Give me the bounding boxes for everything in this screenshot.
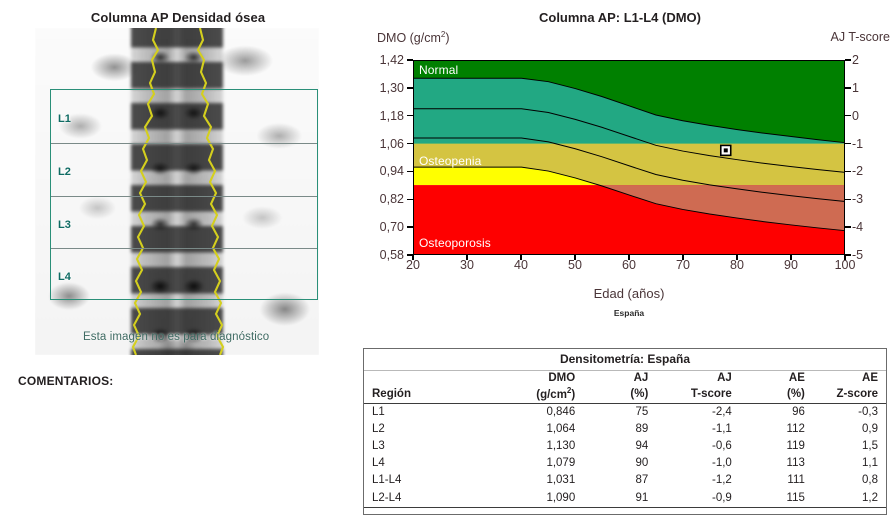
table-row[interactable]: L1-L41,03187-1,21110,8 [364, 472, 886, 489]
t-tick-label: -3 [852, 192, 863, 206]
table-cell-ae_pct: 112 [740, 421, 813, 438]
densitometry-table: Densitometría: España DMOAJAJAEAE Región… [364, 349, 886, 508]
t-tick-mark [845, 226, 851, 228]
table-row[interactable]: L2-L41,09091-0,91151,2 [364, 490, 886, 508]
table-cell-ae_z: 0,8 [813, 472, 886, 489]
x-tick-mark [466, 255, 468, 260]
y-tick-mark [407, 87, 413, 89]
table-cell-ae_z: 0,9 [813, 421, 886, 438]
table-cell-aj_pct: 89 [583, 421, 656, 438]
table-row[interactable]: L31,13094-0,61191,5 [364, 438, 886, 455]
results-table[interactable]: Densitometría: España DMOAJAJAEAE Región… [363, 348, 887, 515]
table-cell-ae_z: 1,5 [813, 438, 886, 455]
y-tick-mark [407, 59, 413, 61]
x-tick-mark [412, 255, 414, 260]
table-cell-dmo: 0,846 [489, 403, 583, 421]
table-header-top: AJ [656, 370, 740, 386]
table-header-bottom: Z-score [813, 386, 886, 403]
table-cell-region: L2 [364, 421, 489, 438]
t-tick-mark [845, 171, 851, 173]
table-cell-aj_pct: 91 [583, 490, 656, 508]
table-cell-aj_t: -2,4 [656, 403, 740, 421]
table-row[interactable]: L21,06489-1,11120,9 [364, 421, 886, 438]
t-tick-label: 0 [852, 109, 859, 123]
table-cell-aj_pct: 94 [583, 438, 656, 455]
scan-panel: Columna AP Densidad ósea L1 L2 L3 L4 Est… [0, 0, 360, 400]
table-header-top: AE [813, 370, 886, 386]
x-tick-mark [736, 255, 738, 260]
table-header-bottom: Región [364, 386, 489, 403]
table-cell-ae_pct: 119 [740, 438, 813, 455]
table-cell-region: L1 [364, 403, 489, 421]
table-cell-aj_t: -1,1 [656, 421, 740, 438]
table-cell-dmo: 1,064 [489, 421, 583, 438]
table-cell-dmo: 1,130 [489, 438, 583, 455]
roi-row-l3[interactable]: L3 [51, 197, 317, 249]
table-cell-ae_z: 1,2 [813, 490, 886, 508]
table-cell-aj_pct: 90 [583, 455, 656, 472]
y-tick-label: 1,42 [380, 53, 404, 67]
x-tick-label: 80 [730, 258, 744, 272]
t-tick-mark [845, 115, 851, 117]
table-header-top: AJ [583, 370, 656, 386]
x-tick-mark [790, 255, 792, 260]
table-cell-region: L4 [364, 455, 489, 472]
dxa-scan-image[interactable]: L1 L2 L3 L4 Esta imagen no es para diagn… [35, 28, 319, 355]
roi-label-l4: L4 [58, 271, 71, 283]
table-header-top [364, 370, 489, 386]
t-axis-title: AJ T-score [830, 30, 890, 44]
y-tick-mark [407, 115, 413, 117]
table-header-bottom: (g/cm2) [489, 386, 583, 403]
x-tick-label: 90 [784, 258, 798, 272]
table-cell-region: L2-L4 [364, 490, 489, 508]
t-tick-mark [845, 59, 851, 61]
t-tick-label: -4 [852, 220, 863, 234]
table-cell-ae_pct: 113 [740, 455, 813, 472]
y-tick-label: 0,58 [380, 248, 404, 262]
table-cell-region: L1-L4 [364, 472, 489, 489]
table-row[interactable]: L10,84675-2,496-0,3 [364, 403, 886, 421]
table-cell-aj_pct: 75 [583, 403, 656, 421]
x-axis-title: Edad (años) [413, 286, 845, 301]
y-axis-title-text: DMO (g/cm2) [377, 31, 450, 45]
roi-row-l2[interactable]: L2 [51, 144, 317, 198]
roi-row-l4[interactable]: L4 [51, 249, 317, 299]
scan-disclaimer: Esta imagen no es para diagnóstico [83, 331, 269, 343]
roi-grid[interactable]: L1 L2 L3 L4 [50, 89, 318, 300]
roi-row-l1[interactable]: L1 [51, 90, 317, 144]
roi-label-l2: L2 [58, 166, 71, 178]
t-tick-label: 2 [852, 53, 859, 67]
y-tick-label: 0,70 [380, 220, 404, 234]
table-cell-aj_pct: 87 [583, 472, 656, 489]
x-tick-label: 30 [460, 258, 474, 272]
x-tick-mark [574, 255, 576, 260]
table-header-bottom: T-score [656, 386, 740, 403]
t-tick-mark [845, 199, 851, 201]
table-cell-dmo: 1,031 [489, 472, 583, 489]
chart-region-note: España [413, 308, 845, 318]
table-cell-dmo: 1,079 [489, 455, 583, 472]
table-cell-aj_t: -0,9 [656, 490, 740, 508]
x-tick-label: 40 [514, 258, 528, 272]
y-axis-title: DMO (g/cm2) [377, 30, 450, 45]
table-cell-dmo: 1,090 [489, 490, 583, 508]
footer-divider [364, 507, 886, 508]
y-tick-mark [407, 199, 413, 201]
y-tick-mark [407, 226, 413, 228]
x-tick-mark [520, 255, 522, 260]
y-tick-label: 0,94 [380, 164, 404, 178]
y-tick-label: 1,06 [380, 137, 404, 151]
x-tick-mark [682, 255, 684, 260]
table-header-bottom: (%) [740, 386, 813, 403]
t-tick-label: 1 [852, 81, 859, 95]
x-tick-mark [628, 255, 630, 260]
y-tick-mark [407, 143, 413, 145]
t-tick-mark [845, 87, 851, 89]
table-cell-aj_t: -1,0 [656, 455, 740, 472]
table-cell-ae_pct: 111 [740, 472, 813, 489]
x-tick-label: 70 [676, 258, 690, 272]
comments-label: COMENTARIOS: [18, 374, 114, 388]
chart-plot-area[interactable] [413, 60, 845, 255]
table-cell-aj_t: -0,6 [656, 438, 740, 455]
y-tick-label: 1,30 [380, 81, 404, 95]
x-tick-mark [844, 255, 846, 260]
scan-title: Columna AP Densidad ósea [0, 10, 356, 25]
table-body: L10,84675-2,496-0,3L21,06489-1,11120,9L3… [364, 403, 886, 507]
y-tick-mark [407, 171, 413, 173]
table-cell-ae_z: 1,1 [813, 455, 886, 472]
table-header-row-2: Región(g/cm2)(%)T-score(%)Z-score [364, 386, 886, 403]
x-tick-label: 50 [568, 258, 582, 272]
table-cell-ae_pct: 115 [740, 490, 813, 508]
table-header-row-1: DMOAJAJAEAE [364, 370, 886, 386]
y-tick-label: 1,18 [380, 109, 404, 123]
t-tick-mark [845, 143, 851, 145]
t-tick-label: -2 [852, 164, 863, 178]
x-tick-label: 100 [835, 258, 856, 272]
roi-label-l3: L3 [58, 219, 71, 231]
table-header-top: AE [740, 370, 813, 386]
bmd-reference-chart: Columna AP: L1-L4 (DMO) DMO (g/cm2) AJ T… [360, 0, 896, 330]
patient-marker-inner [724, 148, 728, 152]
table-header-bottom: (%) [583, 386, 656, 403]
roi-label-l1: L1 [58, 113, 71, 125]
chart-title: Columna AP: L1-L4 (DMO) [360, 10, 880, 25]
table-cell-aj_t: -1,2 [656, 472, 740, 489]
table-caption: Densitometría: España [364, 349, 886, 370]
table-cell-region: L3 [364, 438, 489, 455]
x-tick-label: 20 [406, 258, 420, 272]
table-row[interactable]: L41,07990-1,01131,1 [364, 455, 886, 472]
x-tick-label: 60 [622, 258, 636, 272]
table-header-top: DMO [489, 370, 583, 386]
table-cell-ae_z: -0,3 [813, 403, 886, 421]
table-cell-ae_pct: 96 [740, 403, 813, 421]
t-tick-mark [845, 254, 851, 256]
t-tick-label: -1 [852, 137, 863, 151]
y-tick-label: 0,82 [380, 192, 404, 206]
